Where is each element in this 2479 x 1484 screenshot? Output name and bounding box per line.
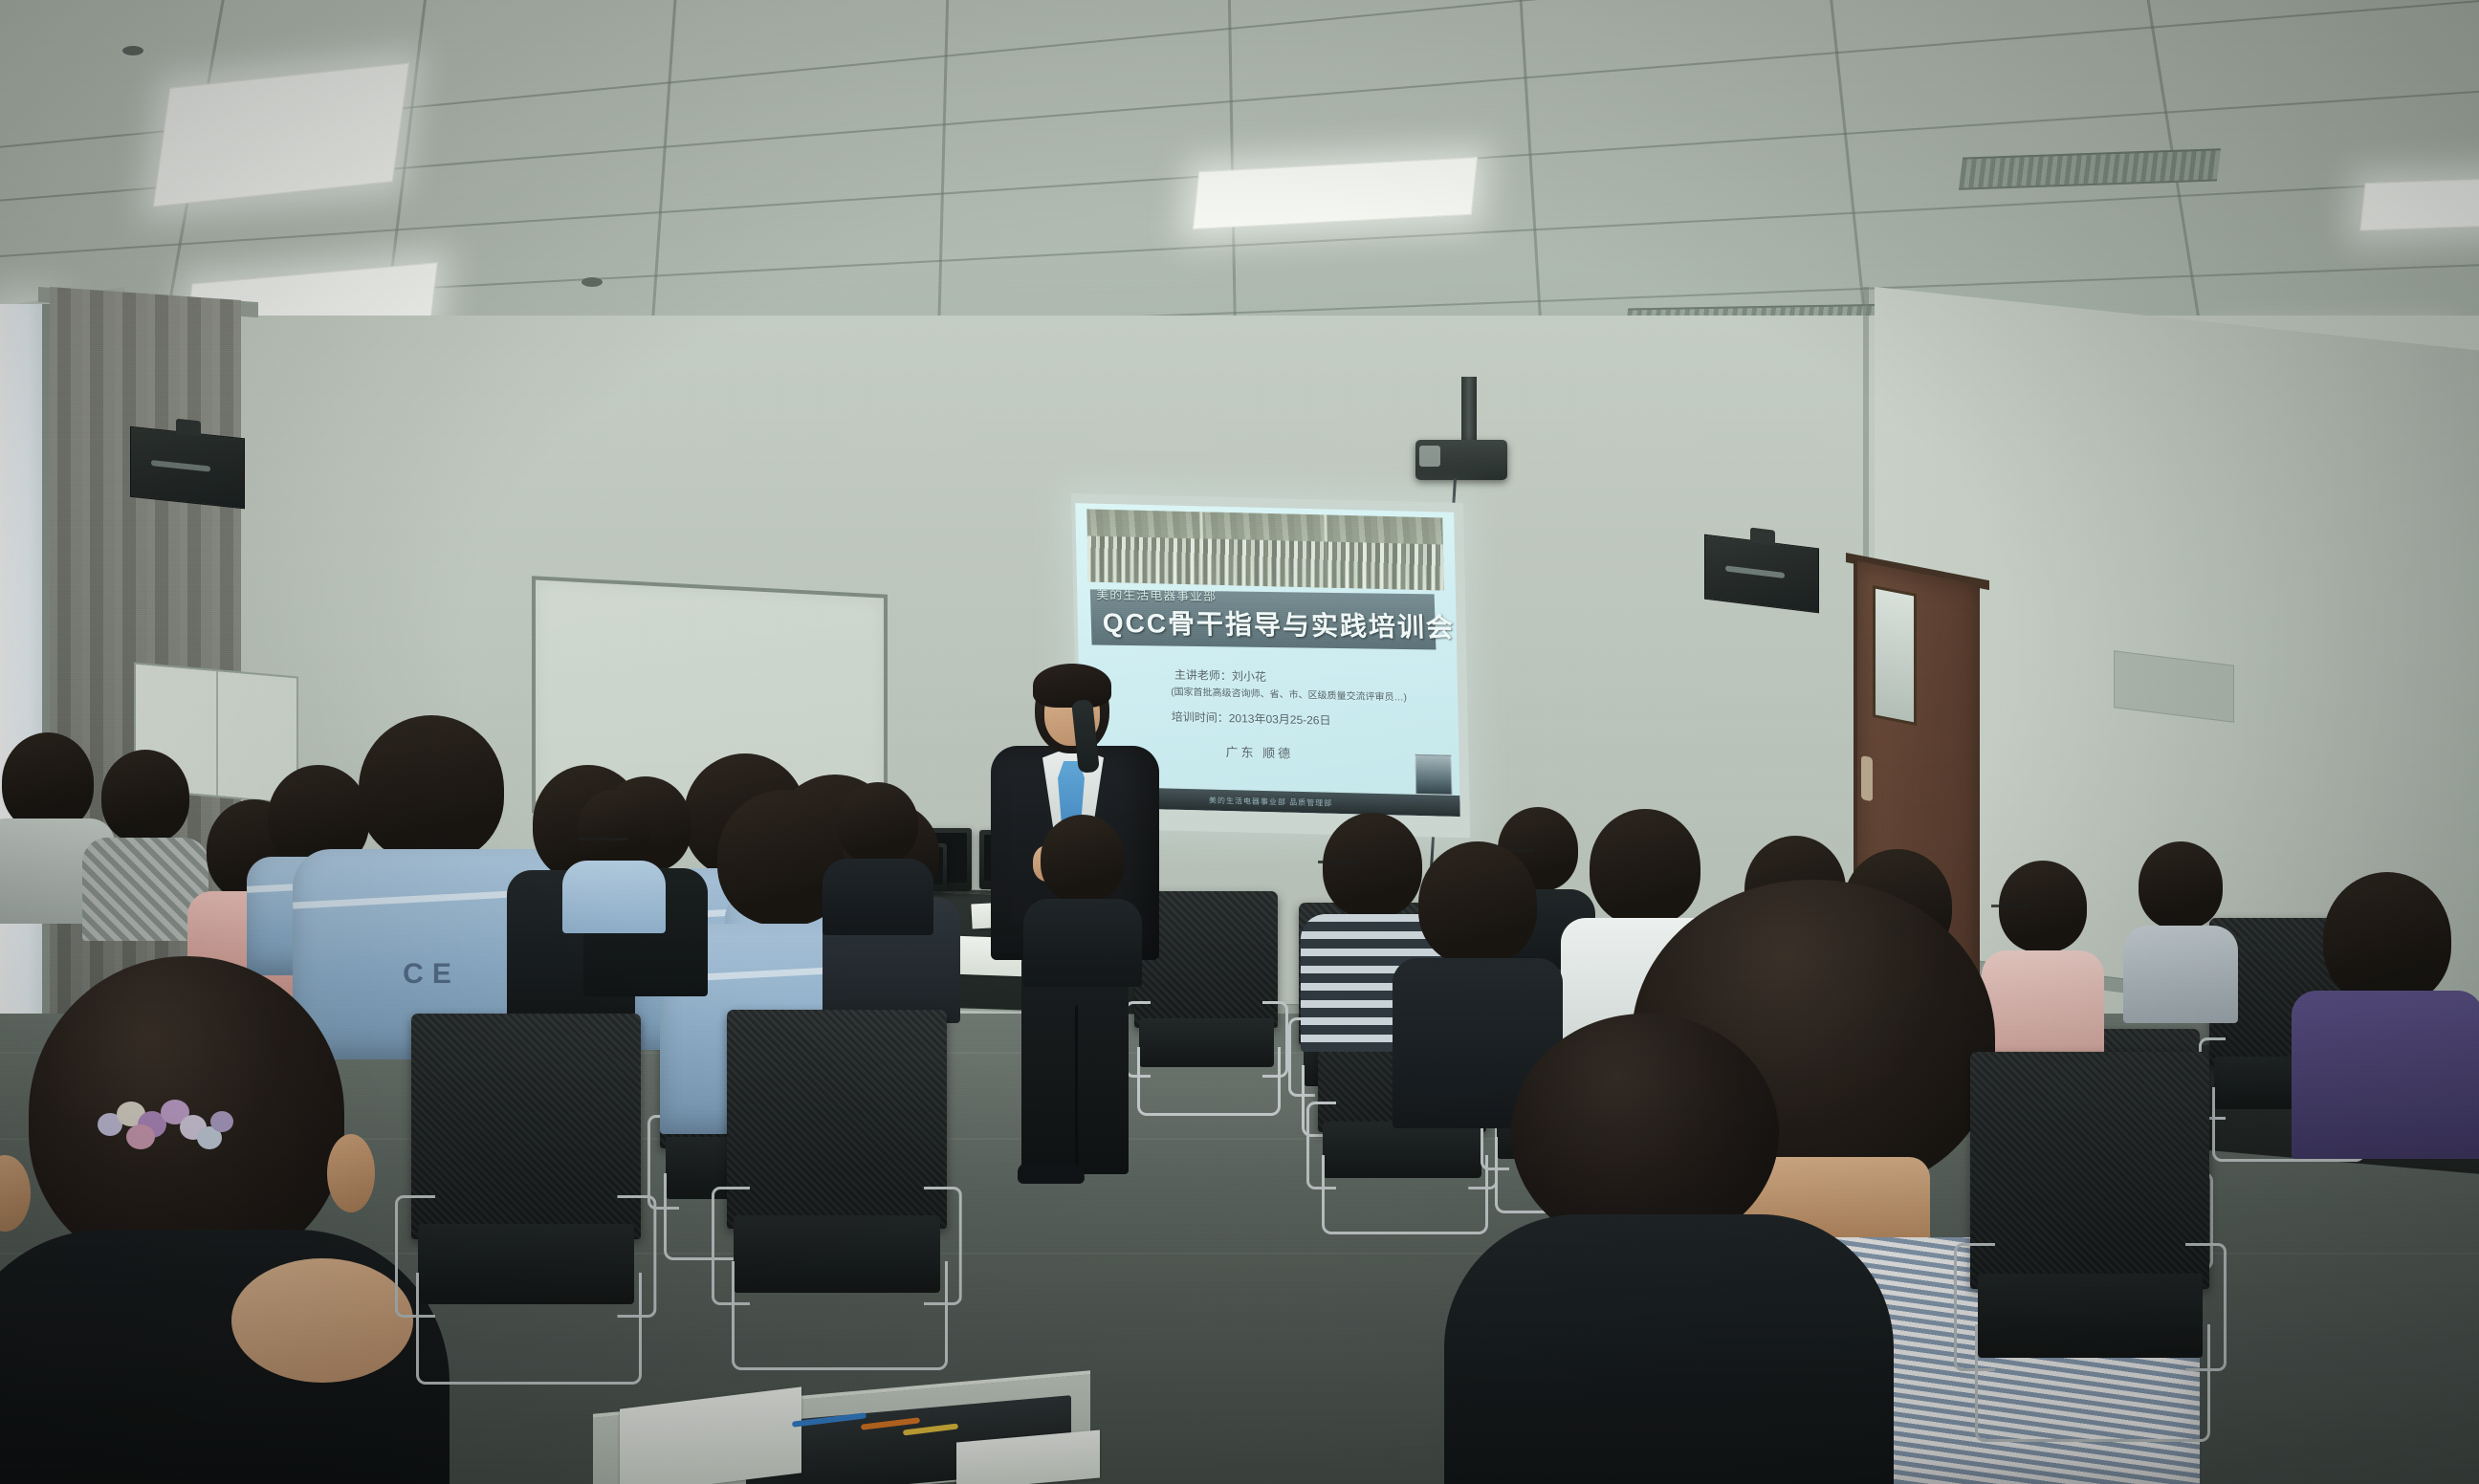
- slide-date-line: 培训时间：2013年03月25-26日: [1172, 709, 1331, 729]
- slide-location-line: 广东 顺德: [1225, 742, 1293, 762]
- attendee: [2292, 872, 2479, 1159]
- glasses-icon: [1318, 861, 1360, 870]
- glasses-icon: [578, 838, 627, 847]
- training-room-photo: 美的生活电器事业部 QCC骨干指导与实践培训会 主讲老师：刘小花 (国家首批高级…: [0, 0, 2479, 1484]
- door-handle[interactable]: [1861, 755, 1873, 801]
- door-window: [1873, 585, 1917, 726]
- smoke-detector: [581, 277, 603, 287]
- ceiling-light-panel: [1193, 157, 1478, 229]
- hvac-vent: [1959, 148, 2221, 190]
- foreground-attendee-dark: [1473, 1014, 1855, 1484]
- slide-credentials-line: (国家首批高级咨询师、省、市、区级质量交流评审员…): [1171, 684, 1407, 704]
- slide-header-photo: [1086, 509, 1444, 590]
- smoke-detector: [122, 46, 143, 55]
- foreground-chair[interactable]: [727, 1010, 947, 1364]
- projector-mount-pole: [1461, 377, 1477, 447]
- foreground-chair[interactable]: [411, 1014, 641, 1377]
- slide-title: QCC骨干指导与实践培训会: [1102, 602, 1455, 645]
- slide-speaker-line: 主讲老师：刘小花: [1174, 666, 1266, 685]
- attendee: [1023, 815, 1142, 987]
- projector-lens-icon: [1419, 446, 1440, 467]
- foreground-chair[interactable]: [1970, 1052, 2209, 1434]
- ceiling-light-panel: [153, 63, 409, 207]
- woman-ear: [0, 1155, 31, 1232]
- ceiling-light-panel: [2359, 177, 2479, 231]
- floral-hair-clip: [92, 1098, 245, 1151]
- attendee: [562, 790, 666, 933]
- attendee: [823, 782, 933, 935]
- presenter-shoe: [1018, 1163, 1085, 1184]
- presenter-hair: [1033, 664, 1111, 708]
- woman-ear: [327, 1134, 375, 1212]
- woman-cheek: [231, 1258, 413, 1383]
- wall-speaker-left: [130, 426, 245, 510]
- wall-speaker-right: [1704, 535, 1819, 614]
- slide-portrait-thumbnail: [1415, 754, 1452, 796]
